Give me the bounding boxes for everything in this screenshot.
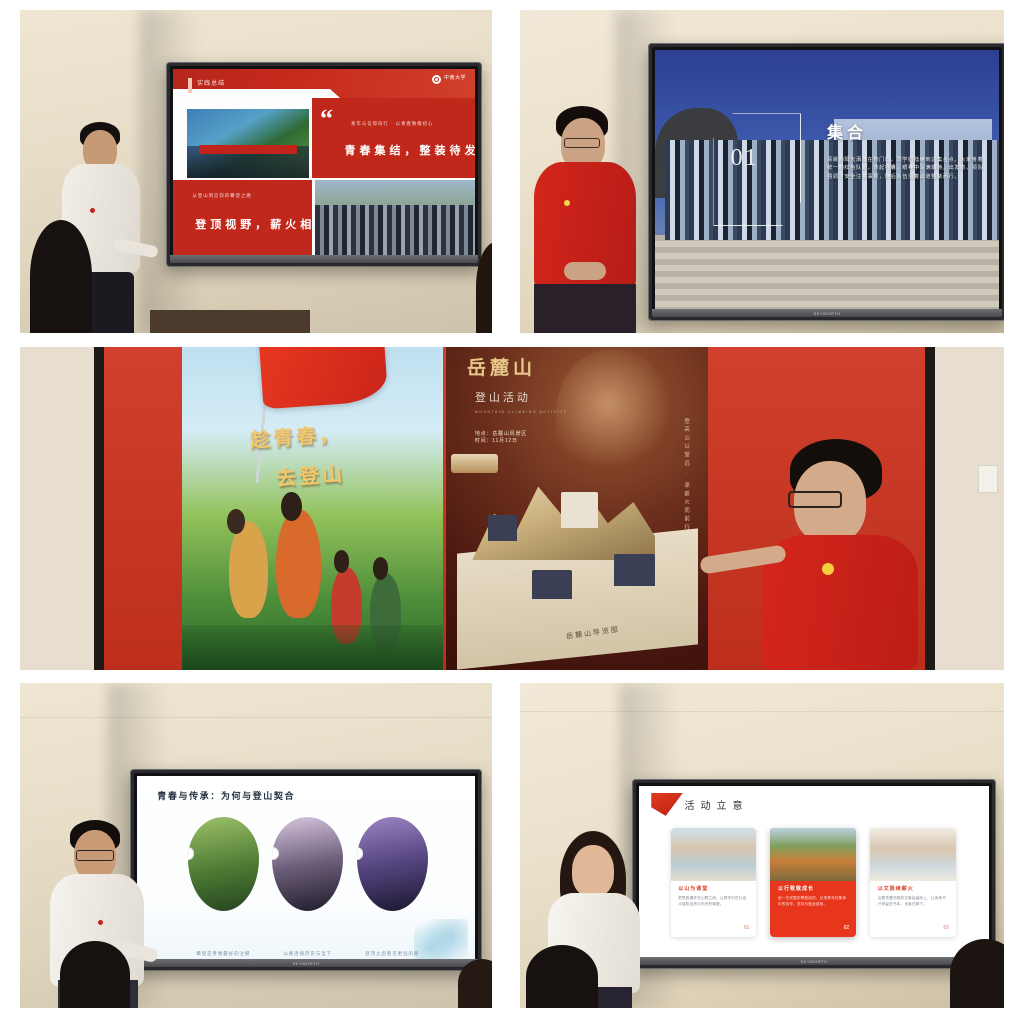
- audience-head-left: [30, 220, 92, 333]
- wall-display: 活动立意 以山为课堂 把思政课开在山野之间，让同学们在行走中感知自然与历史的厚度…: [632, 779, 996, 969]
- card-image-2: [770, 828, 856, 880]
- card-body-1: 把思政课开在山野之间，让同学们在行走中感知自然与历史的厚度。: [678, 895, 748, 908]
- slide-activity-purpose: 活动立意 以山为课堂 把思政课开在山野之间，让同学们在行走中感知自然与历史的厚度…: [639, 786, 989, 962]
- stone-steps: [655, 235, 999, 314]
- display-bezel: 01 集合 清晨的阳光洒落在校门口，同学们陆续到达集合点。大家身着统一的红色队服…: [652, 47, 1002, 317]
- column-image-3: [357, 817, 428, 911]
- slide-photo-group: [187, 109, 309, 178]
- poster-right-meta: 地点：岳麓山风景区 时间：11月12日: [475, 431, 527, 446]
- portrait: [556, 350, 671, 486]
- purpose-card-2: 以行致敬成长 用一次完整的攀登经历，记录青年在集体中的协作、坚持与彼此成就。 0…: [770, 828, 856, 937]
- card-image-1: [671, 828, 757, 880]
- red-banner: [199, 145, 297, 154]
- poster-right-subtitle-en: MOUNTAIN CLIMBING ACTIVITY: [475, 410, 568, 414]
- column-heading-1: 攀登是青春最好的注脚: [188, 951, 259, 957]
- column-tag-3: [357, 848, 363, 859]
- display-chin: SKYWORTH: [134, 959, 478, 967]
- display-screen: 01 集合 清晨的阳光洒落在校门口，同学们陆续到达集合点。大家身着统一的红色队服…: [655, 50, 999, 314]
- section-title: 集合: [827, 119, 867, 143]
- scroll-prop: [451, 454, 498, 473]
- audience-head-right: [950, 939, 1004, 1008]
- card-number-3: 03: [943, 925, 949, 931]
- wall-switch[interactable]: [978, 465, 998, 493]
- table-edge: [150, 310, 310, 333]
- watercolor-decoration: [414, 919, 468, 960]
- wall-display: 实践总结 中南大学 “ 青年与信仰同行 · 以青春致敬初心 青春集结: [166, 62, 482, 267]
- display-chin: [170, 255, 478, 263]
- display-brand: SKYWORTH: [813, 311, 840, 316]
- poster-left-headline-2: 去登山: [275, 458, 346, 492]
- hiker-4-head: [373, 557, 389, 580]
- poster-meta-line-2: 时间：11月12日: [475, 438, 527, 446]
- display-bezel: 活动立意 以山为课堂 把思政课开在山野之间，让同学们在行走中感知自然与历史的厚度…: [636, 783, 992, 965]
- poster-right-title: 岳麓山: [467, 353, 536, 380]
- quote-mark-icon: “: [320, 109, 333, 130]
- hiker-3-head: [334, 550, 350, 573]
- slide-header-text: 实践总结: [197, 78, 225, 87]
- poster-left-headline-1: 趁青春，: [249, 418, 343, 453]
- slide-column-2: 山路连接历史与当下 岳麓山承载着百年的记忆，行走其间即是与先辈对话，让红色的故事…: [272, 817, 343, 911]
- photo-collage: 实践总结 中南大学 “ 青年与信仰同行 · 以青春致敬初心 青春集结: [0, 0, 1024, 1024]
- lower-caption: 从登山到信仰的攀登之路: [192, 193, 251, 199]
- poster-right-subtitle: 登山活动: [475, 389, 531, 405]
- display-bezel: 青春与传承：为何与登山契合 攀登是青春最好的注脚 每一步上行都是对自我的挑战，登…: [134, 773, 478, 967]
- pavilion-3: [614, 554, 656, 586]
- wall-display: 01 集合 清晨的阳光洒落在校门口，同学们陆续到达集合点。大家身着统一的红色队服…: [648, 43, 1004, 321]
- lower-headline: 登顶视野，薪火相传: [195, 216, 330, 232]
- slide-title: 青春与传承：为何与登山契合: [157, 789, 295, 802]
- column-image-1: [188, 817, 259, 911]
- quote-caption: 青年与信仰同行 · 以青春致敬初心: [351, 121, 433, 127]
- slide-summary: 实践总结 中南大学 “ 青年与信仰同行 · 以青春致敬初心 青春集结: [173, 69, 475, 260]
- glasses-icon: [788, 491, 842, 508]
- display-brand: SKYWORTH: [292, 961, 319, 966]
- slide-title: 活动立意: [685, 797, 749, 812]
- column-tag-2: [272, 848, 278, 859]
- photo-top-left: 实践总结 中南大学 “ 青年与信仰同行 · 以青春致敬初心 青春集结: [20, 10, 492, 333]
- display-screen: 实践总结 中南大学 “ 青年与信仰同行 · 以青春致敬初心 青春集结: [173, 69, 475, 260]
- flag-icon: [258, 347, 388, 409]
- glasses-icon: [76, 850, 114, 861]
- column-tag-1: [188, 848, 194, 859]
- hiker-1: [229, 521, 268, 618]
- card-heading-2: 以行致敬成长: [778, 885, 814, 892]
- card-heading-1: 以山为课堂: [678, 885, 708, 892]
- display-bezel: 实践总结 中南大学 “ 青年与信仰同行 · 以青春致敬初心 青春集结: [170, 66, 478, 263]
- photo-top-right: 01 集合 清晨的阳光洒落在校门口，同学们陆续到达集合点。大家身着统一的红色队服…: [520, 10, 1004, 333]
- poster-right-side-text: 登高山以望远 · 承薪火而前行: [679, 418, 692, 533]
- display-chin: SKYWORTH: [636, 957, 992, 965]
- purpose-card-3: 以文脉续薪火 沿着岳麓书院的文脉拾级而上，让传承不只停留在书本，也落在脚下。 0…: [870, 828, 956, 937]
- quote-headline: 青春集结，整装待发: [345, 142, 475, 158]
- section-number: 01: [731, 145, 759, 172]
- poster-right: 岳麓山 登山活动 MOUNTAIN CLIMBING ACTIVITY 地点：岳…: [446, 347, 708, 670]
- header-accent-bar: [188, 78, 192, 93]
- badge-icon: [822, 563, 834, 575]
- pavilion-2: [532, 570, 571, 599]
- card-image-3: [870, 828, 956, 880]
- logo-mark-icon: [432, 75, 441, 84]
- slide-photo-class: [315, 180, 475, 260]
- card-number-1: 01: [744, 925, 750, 931]
- ribbon-icon: [651, 793, 683, 816]
- slide-column-1: 攀登是青春最好的注脚 每一步上行都是对自我的挑战，登山让青春在汗水与坚持中显出力…: [188, 817, 259, 911]
- display-screen: 活动立意 以山为课堂 把思政课开在山野之间，让同学们在行走中感知自然与历史的厚度…: [639, 786, 989, 962]
- university-logo: 中南大学: [432, 75, 466, 84]
- logo-text: 中南大学: [444, 76, 466, 82]
- pavilion-1: [488, 515, 517, 541]
- photo-middle-wide: 趁青春， 去登山 岳麓山 登山活动 MOUNTAIN CLIMBING ACTI…: [20, 347, 1004, 670]
- wall-display: 青春与传承：为何与登山契合 攀登是青春最好的注脚 每一步上行都是对自我的挑战，登…: [130, 769, 482, 971]
- hall-white: [561, 492, 598, 528]
- audience-head-left: [526, 945, 598, 1008]
- display-chin: SKYWORTH: [652, 309, 1002, 317]
- section-body: 清晨的阳光洒落在校门口，同学们陆续到达集合点。大家身着统一的红色队服，背起行囊，…: [827, 156, 985, 182]
- card-body-2: 用一次完整的攀登经历，记录青年在集体中的协作、坚持与彼此成就。: [778, 895, 848, 908]
- presenter-person: [534, 106, 636, 333]
- card-number-2: 02: [844, 925, 850, 931]
- card-heading-3: 以文脉续薪火: [878, 885, 914, 892]
- slide-quote-panel: “ 青年与信仰同行 · 以青春致敬初心 青春集结，整装待发: [312, 98, 475, 178]
- slide-column-3: 登顶之后看见更远的路 站在山巅回望来路，视野被打开，理想被照亮，我们带着这份开阔…: [357, 817, 428, 911]
- column-heading-2: 山路连接历史与当下: [272, 951, 343, 957]
- column-image-2: [272, 817, 343, 911]
- display-screen: 青春与传承：为何与登山契合 攀登是青春最好的注脚 每一步上行都是对自我的挑战，登…: [137, 776, 475, 964]
- people-row: [315, 205, 475, 255]
- hiker-1-head: [227, 509, 245, 535]
- slide-why-climb: 青春与传承：为何与登山契合 攀登是青春最好的注脚 每一步上行都是对自我的挑战，登…: [137, 776, 475, 964]
- presenter-person: [760, 439, 918, 670]
- hiker-2: [276, 509, 320, 619]
- display-brand: SKYWORTH: [800, 959, 827, 964]
- glasses-icon: [564, 138, 600, 148]
- card-body-3: 沿着岳麓书院的文脉拾级而上，让传承不只停留在书本，也落在脚下。: [878, 895, 948, 908]
- photo-bottom-right: 活动立意 以山为课堂 把思政课开在山野之间，让同学们在行走中感知自然与历史的厚度…: [520, 683, 1004, 1008]
- audience-head: [60, 941, 130, 1008]
- slide-lower-panel: 从登山到信仰的攀登之路 登顶视野，薪火相传: [173, 180, 312, 260]
- purpose-card-1: 以山为课堂 把思政课开在山野之间，让同学们在行走中感知自然与历史的厚度。 01: [671, 828, 757, 937]
- poster-left: 趁青春， 去登山: [182, 347, 443, 670]
- audience-head-2: [458, 959, 492, 1008]
- photo-bottom-left: 青春与传承：为何与登山契合 攀登是青春最好的注脚 每一步上行都是对自我的挑战，登…: [20, 683, 492, 1008]
- slide-section-01: 01 集合 清晨的阳光洒落在校门口，同学们陆续到达集合点。大家身着统一的红色队服…: [655, 50, 999, 314]
